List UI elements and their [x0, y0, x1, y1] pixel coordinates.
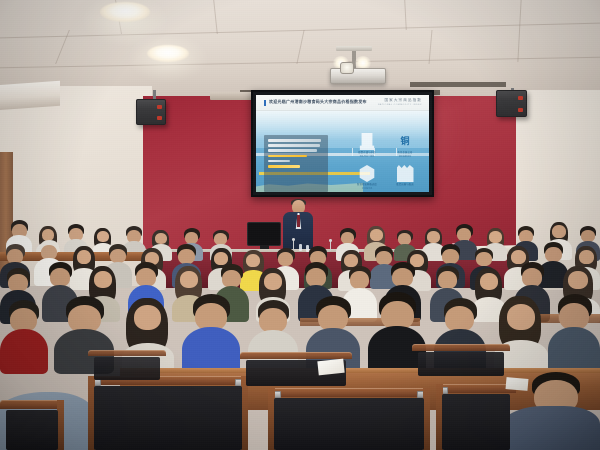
projection-screen: 欢迎光临广州港南沙粮食码头大宗商品价格指数发布 国家大宗商品指数 NATIONA… — [251, 90, 434, 197]
slide-body: 粮食仓储与中转 码头作业一体化 铜 有色金属交易 铜价指数发布 智慧物流网络调度… — [256, 111, 429, 192]
downlight-1 — [100, 2, 150, 22]
water-bottle-1 — [299, 244, 302, 251]
presenter-tie — [297, 215, 300, 227]
audience-person — [0, 300, 48, 370]
slide-title: 欢迎光临广州港南沙粮食码头大宗商品价格指数发布 — [269, 99, 367, 105]
auditorium-chair[interactable] — [436, 384, 516, 450]
lecture-hall-photo: 欢迎光临广州港南沙粮食码头大宗商品价格指数发布 国家大宗商品指数 NATIONA… — [0, 0, 600, 450]
handout-paper — [506, 377, 529, 391]
left-wall-speaker — [136, 99, 166, 125]
slide-logo: 国家大宗商品指数 NATIONAL COMMODITY INDEX — [378, 98, 422, 106]
bulk-cargo-truck-icon — [397, 165, 414, 182]
downlight-2 — [147, 45, 189, 62]
desktop-monitor — [247, 222, 281, 246]
slide-icon-item-1: 铜 有色金属交易 铜价指数发布 — [387, 133, 423, 158]
slide-icon-sub-0: 码头作业一体化 — [349, 155, 385, 158]
microphone-head-2 — [329, 239, 332, 242]
copper-icon: 铜 — [397, 133, 414, 150]
projector-lens — [340, 62, 354, 74]
presentation-slide: 欢迎光临广州港南沙粮食码头大宗商品价格指数发布 国家大宗商品指数 NATIONA… — [256, 95, 429, 192]
slide-logo-en: NATIONAL COMMODITY INDEX — [378, 104, 422, 106]
slide-icon-grid: 粮食仓储与中转 码头作业一体化 铜 有色金属交易 铜价指数发布 智慧物流网络调度… — [349, 133, 423, 192]
slide-text-block — [264, 135, 328, 192]
logistics-network-icon — [359, 165, 376, 182]
auditorium-chair[interactable] — [88, 350, 166, 380]
auditorium-chair[interactable] — [268, 388, 430, 450]
slide-icon-item-3: 散货运输与配送 — [387, 165, 423, 187]
microphone-head-1 — [292, 238, 295, 241]
grain-silo-icon — [359, 133, 376, 150]
slide-icon-caption-3: 散货运输与配送 — [387, 184, 423, 187]
slide-header: 欢迎光临广州港南沙粮食码头大宗商品价格指数发布 国家大宗商品指数 NATIONA… — [256, 95, 429, 111]
auditorium-chair[interactable] — [0, 400, 64, 450]
projector-mount-plate — [336, 46, 372, 51]
slide-accent-bar — [264, 100, 266, 106]
wall-soffit — [0, 81, 60, 110]
auditorium-chair[interactable] — [88, 376, 248, 450]
ceiling-duct — [410, 82, 506, 87]
slide-icon-sub-2: 全流程可视 — [349, 187, 385, 190]
slide-icon-item-0: 粮食仓储与中转 码头作业一体化 — [349, 133, 385, 158]
auditorium-chair[interactable] — [412, 344, 510, 376]
ceiling-projector — [330, 68, 386, 84]
slide-logo-cn: 国家大宗商品指数 — [378, 98, 422, 103]
slide-icon-sub-1: 铜价指数发布 — [387, 155, 423, 158]
handout-paper — [317, 359, 344, 376]
audience-person — [548, 294, 600, 370]
slide-icon-item-2: 智慧物流网络调度 全流程可视 — [349, 165, 385, 190]
right-wall-speaker — [496, 90, 527, 117]
audience-person — [182, 294, 240, 370]
